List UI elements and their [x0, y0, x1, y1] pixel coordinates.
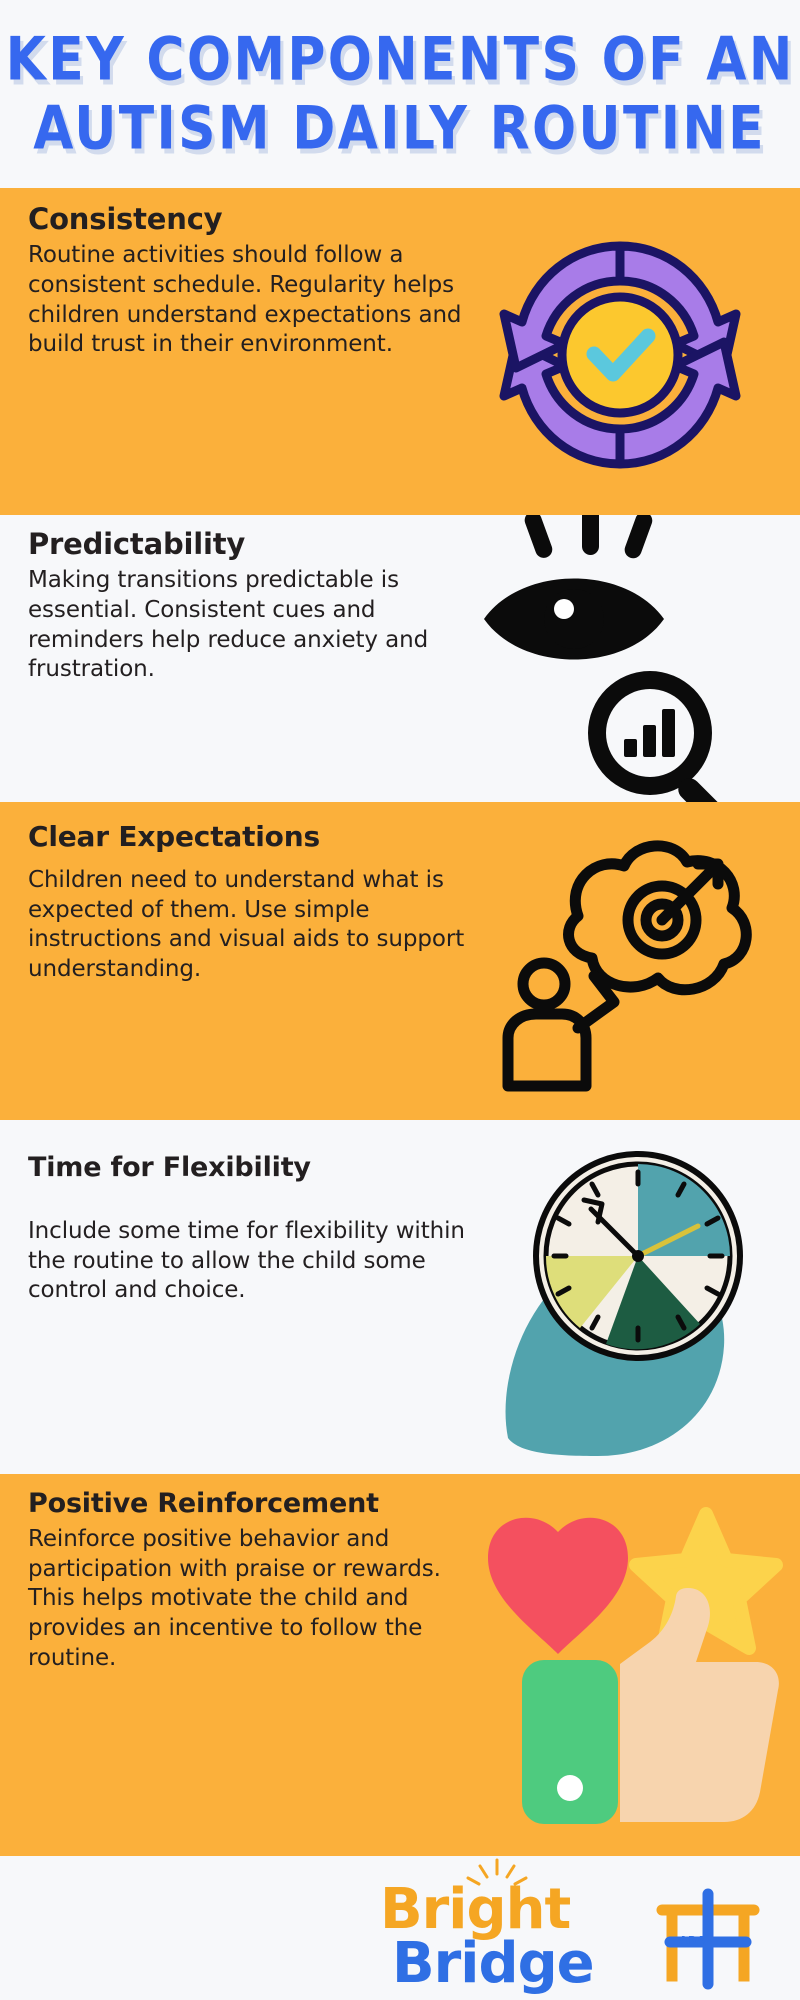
section-text: Time for Flexibility Include some time f…: [28, 1120, 480, 1306]
logo-word-bright: Bright: [380, 1882, 570, 1938]
bridge-mark-icon: [648, 1880, 768, 1992]
cycle-arrows-check-icon: [470, 210, 770, 505]
section-consistency: Consistency Routine activities should fo…: [0, 188, 800, 515]
eye-magnifier-chart-icon: [478, 515, 778, 802]
logo-word-bridge: Bridge: [392, 1936, 594, 1992]
person-thought-target-icon: [466, 824, 766, 1109]
section-title: Predictability: [28, 529, 480, 560]
section-body: Children need to understand what is expe…: [28, 866, 480, 986]
section-title: Consistency: [28, 204, 480, 235]
section-predictability: Predictability Making transitions predic…: [0, 515, 800, 802]
section-title: Clear Expectations: [28, 822, 480, 852]
section-positive-reinforcement: Positive Reinforcement Reinforce positiv…: [0, 1474, 800, 1856]
title-line-1: KEY COMPONENTS OF AN: [6, 30, 795, 90]
title-line-2: AUTISM DAILY ROUTINE: [34, 99, 767, 159]
logo-badge-aba: ABA: [679, 1934, 706, 1947]
section-text: Predictability Making transitions predic…: [28, 515, 480, 685]
section-body: Making transitions predictable is essent…: [28, 566, 480, 686]
section-title: Positive Reinforcement: [28, 1490, 480, 1519]
section-title: Time for Flexibility: [28, 1154, 480, 1183]
section-text: Positive Reinforcement Reinforce positiv…: [28, 1474, 480, 1674]
section-body: Reinforce positive behavior and particip…: [28, 1525, 480, 1674]
section-time-for-flexibility: Time for Flexibility Include some time f…: [0, 1120, 800, 1474]
section-text: Clear Expectations Children need to unde…: [28, 802, 480, 985]
section-body: Routine activities should follow a consi…: [28, 241, 480, 361]
section-body: Include some time for flexibility within…: [28, 1217, 480, 1307]
clock-pie-icon: [488, 1138, 778, 1463]
thumbs-up-heart-star-icon: [470, 1492, 790, 1856]
page-title: KEY COMPONENTS OF AN AUTISM DAILY ROUTIN…: [0, 0, 800, 188]
section-clear-expectations: Clear Expectations Children need to unde…: [0, 802, 800, 1120]
section-text: Consistency Routine activities should fo…: [28, 188, 480, 360]
brand-logo: Bright Bridge ABA: [0, 1856, 800, 2000]
infographic-page: KEY COMPONENTS OF AN AUTISM DAILY ROUTIN…: [0, 0, 800, 2000]
